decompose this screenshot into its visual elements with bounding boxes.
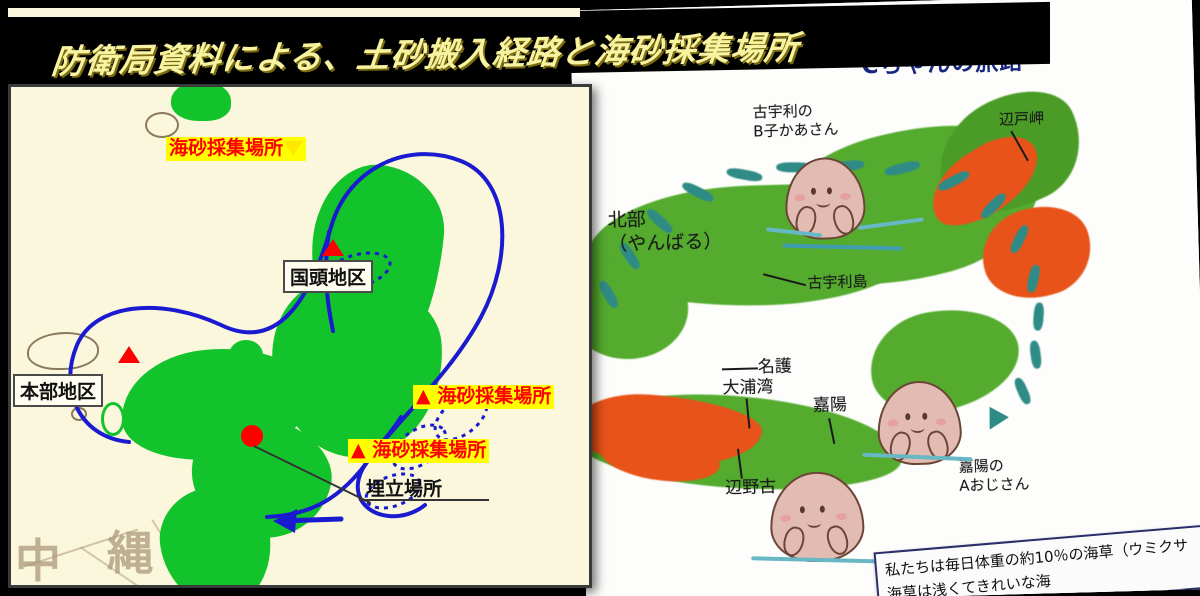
label-hedo-misaki: 辺戸岬: [999, 109, 1045, 129]
route-arrowhead-icon: [980, 407, 1009, 435]
label-nago: 名護: [758, 356, 793, 378]
dugong-eye-left: [800, 506, 805, 513]
dugong-eye-left: [811, 188, 816, 195]
label-kunigami-district: 国頭地区: [283, 260, 373, 293]
label-sea-sand-east-2: ▲ 海砂採集場所: [348, 439, 489, 463]
dugong-c-chan: [769, 471, 861, 559]
label-sea-sand-north: 海砂採集場所: [166, 137, 306, 161]
label-kouri-b-mother: 古宇利の B子かあさん: [752, 101, 838, 141]
water-wave: [751, 556, 881, 563]
leader-nago: [722, 367, 758, 370]
label-kouri-island: 古宇利島: [807, 272, 868, 292]
top-light-strip: [8, 8, 580, 17]
route-dash: [1029, 340, 1043, 369]
dugong-eye-left: [905, 413, 910, 420]
transport-route-overlay: [11, 87, 589, 585]
label-kayo: 嘉陽: [813, 395, 848, 417]
label-motobu-district: 本部地区: [13, 374, 103, 407]
illustration-canvas: Cちゃんの旅路 辺戸岬 古宇利の B子かあさん 古宇利島 北部 （やんばる） 名…: [570, 0, 1200, 596]
marker-motobu-triangle-icon: [118, 346, 140, 363]
triangle-down-icon: [283, 141, 303, 156]
dugong-eye-right: [922, 413, 927, 420]
dugong-a-uncle: [876, 380, 958, 462]
marker-landfill-dot: [241, 425, 263, 447]
route-arrowhead-icon: [273, 509, 297, 533]
label-landfill-site: 埋立場所: [366, 474, 442, 501]
dugong-eye-right: [827, 187, 832, 194]
explanatory-note: 私たちは毎日体重の約10％の海草（ウミクサ 海草は浅くてきれいな海: [874, 522, 1200, 596]
dugong-journey-map: Cちゃんの旅路 辺戸岬 古宇利の B子かあさん 古宇利島 北部 （やんばる） 名…: [570, 0, 1200, 596]
label-kayo-a-uncle: 嘉陽の Aおじさん: [958, 456, 1029, 495]
label-sea-sand-north-text: 海砂採集場所: [169, 137, 283, 159]
label-oura-bay: 大浦湾: [722, 377, 774, 400]
slide-canvas: Cちゃんの旅路 辺戸岬 古宇利の B子かあさん 古宇利島 北部 （やんばる） 名…: [0, 0, 1200, 596]
label-sea-sand-east-1: ▲ 海砂採集場所: [413, 385, 554, 409]
route-dash: [1012, 376, 1032, 406]
official-route-map: 中 縄: [8, 84, 592, 588]
dugong-eye-right: [820, 506, 825, 513]
dugong-b-mother: [784, 156, 862, 236]
label-northern-yanbaru: 北部 （やんばる）: [607, 206, 722, 257]
marker-kunigami-triangle-icon: [322, 239, 344, 256]
route-dash: [1032, 302, 1044, 331]
route-dash: [726, 167, 763, 183]
